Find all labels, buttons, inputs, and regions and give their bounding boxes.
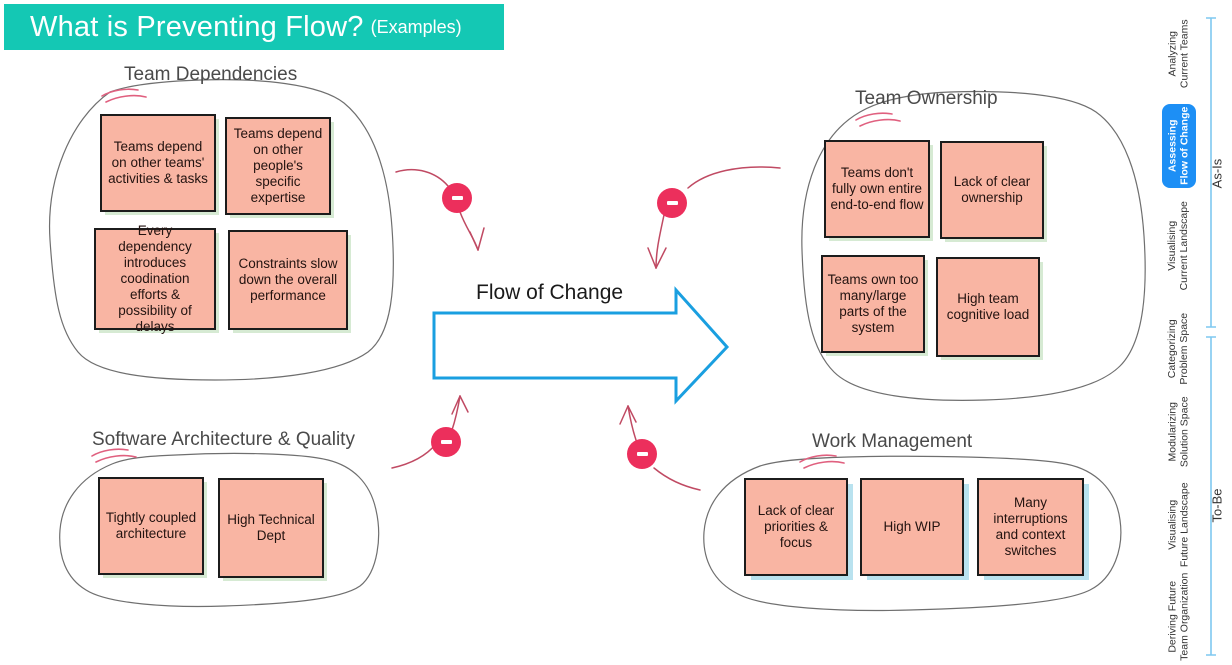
sticky-note[interactable]: Every dependency introduces coodination … bbox=[94, 228, 216, 330]
connector-arch-to-badge bbox=[392, 444, 436, 468]
sidebar-item-modularizing-solution-space[interactable]: Modularizing Solution Space bbox=[1162, 384, 1196, 480]
page-title: What is Preventing Flow? bbox=[30, 11, 364, 44]
page-subtitle: (Examples) bbox=[371, 17, 462, 38]
sticky-note-text: Constraints slow down the overall perfor… bbox=[234, 256, 342, 304]
sticky-note-text: Every dependency introduces coodination … bbox=[100, 223, 210, 334]
connector-ownership-to-badge bbox=[688, 167, 780, 188]
sticky-note-text: Teams don't fully own entire end-to-end … bbox=[830, 165, 924, 213]
sidebar-item-line1: Analyzing bbox=[1167, 20, 1179, 89]
minus-glyph bbox=[441, 440, 452, 444]
sidebar-item-deriving-future-team-organization[interactable]: Deriving Future Team Organization bbox=[1162, 562, 1196, 665]
sidebar-item-line2: Flow of Change bbox=[1179, 107, 1191, 185]
sticky-note-text: Lack of clear ownership bbox=[946, 174, 1038, 206]
sticky-note-text: High team cognitive load bbox=[942, 291, 1034, 323]
sticky-note-text: Teams depend on other people's specific … bbox=[231, 126, 325, 206]
sidebar-item-categorizing-problem-space[interactable]: Categorizing Problem Space bbox=[1162, 304, 1196, 394]
sticky-note[interactable]: Lack of clear priorities & focus bbox=[744, 478, 848, 576]
connector-badge-to-flow-2 bbox=[656, 215, 664, 268]
sidebar-item-line2: Team Organization bbox=[1179, 573, 1191, 661]
minus-badge-icon[interactable] bbox=[431, 427, 461, 457]
cluster-title-team-dependencies: Team Dependencies bbox=[124, 64, 297, 86]
flow-of-change-label: Flow of Change bbox=[476, 281, 623, 305]
sidebar-item-line2: Current Landscape bbox=[1179, 201, 1191, 290]
sticky-note-text: High WIP bbox=[883, 519, 940, 535]
minus-glyph bbox=[452, 196, 463, 200]
connector-badge-to-flow-1 bbox=[460, 212, 478, 250]
sidebar-item-line1: Visualising bbox=[1167, 483, 1179, 568]
sticky-note[interactable]: Teams own too many/large parts of the sy… bbox=[821, 255, 925, 353]
cluster-title-software-architecture-quality: Software Architecture & Quality bbox=[92, 429, 355, 451]
minus-badge-icon[interactable] bbox=[442, 183, 472, 213]
sidebar-item-line2: Future Landscape bbox=[1179, 483, 1191, 568]
sticky-note[interactable]: Teams depend on other people's specific … bbox=[225, 117, 331, 215]
minus-glyph bbox=[637, 452, 648, 456]
slide-title-banner: What is Preventing Flow? (Examples) bbox=[4, 4, 504, 50]
slide-canvas: What is Preventing Flow? (Examples) bbox=[0, 0, 1232, 665]
phase-label-to-be: To-Be bbox=[1204, 450, 1230, 560]
sidebar-item-line2: Current Teams bbox=[1179, 20, 1191, 89]
cluster-title-work-management: Work Management bbox=[812, 431, 972, 453]
sticky-note[interactable]: High WIP bbox=[860, 478, 964, 576]
sticky-note-text: High Technical Dept bbox=[224, 512, 318, 544]
sidebar-item-line2: Problem Space bbox=[1179, 313, 1191, 385]
sticky-note-text: Teams own too many/large parts of the sy… bbox=[827, 272, 919, 336]
sidebar-item-analyzing-current-teams[interactable]: Analyzing Current Teams bbox=[1162, 8, 1196, 100]
sticky-note-text: Many interruptions and context switches bbox=[983, 495, 1078, 559]
connector-work-to-badge bbox=[654, 468, 700, 490]
sticky-note-text: Teams depend on other teams' activities … bbox=[106, 139, 210, 187]
sticky-note-text: Lack of clear priorities & focus bbox=[750, 503, 842, 551]
sidebar-item-visualising-current-landscape[interactable]: Visualising Current Landscape bbox=[1162, 192, 1196, 300]
connector-badge-to-flow-3 bbox=[452, 396, 460, 430]
sticky-note[interactable]: Teams don't fully own entire end-to-end … bbox=[824, 140, 930, 238]
connector-badge-to-flow-4 bbox=[628, 406, 636, 440]
sidebar-item-line1: Deriving Future bbox=[1167, 573, 1179, 661]
phase-sidebar: As-Is To-Be Analyzing Current Teams Asse… bbox=[1160, 0, 1232, 665]
sticky-note[interactable]: Many interruptions and context switches bbox=[977, 478, 1084, 576]
sticky-note[interactable]: Tightly coupled architecture bbox=[98, 477, 204, 575]
cluster-title-team-ownership: Team Ownership bbox=[855, 88, 998, 110]
minus-badge-icon[interactable] bbox=[657, 188, 687, 218]
sticky-note[interactable]: Teams depend on other teams' activities … bbox=[100, 114, 216, 212]
sidebar-item-line2: Solution Space bbox=[1179, 397, 1191, 468]
flow-of-change-arrow bbox=[434, 290, 727, 401]
phase-label-as-is: As-Is bbox=[1204, 118, 1230, 228]
sidebar-item-line1: Modularizing bbox=[1167, 397, 1179, 468]
sticky-note[interactable]: Constraints slow down the overall perfor… bbox=[228, 230, 348, 330]
sticky-note[interactable]: High Technical Dept bbox=[218, 478, 324, 578]
sticky-note-text: Tightly coupled architecture bbox=[104, 510, 198, 542]
minus-badge-icon[interactable] bbox=[627, 439, 657, 469]
sticky-note[interactable]: High team cognitive load bbox=[936, 257, 1040, 357]
minus-glyph bbox=[667, 201, 678, 205]
sidebar-item-assessing-flow-of-change[interactable]: Assessing Flow of Change bbox=[1162, 104, 1196, 188]
connector-deps-to-badge bbox=[396, 170, 448, 186]
sticky-note[interactable]: Lack of clear ownership bbox=[940, 141, 1044, 239]
sidebar-item-line1: Assessing bbox=[1167, 107, 1179, 185]
